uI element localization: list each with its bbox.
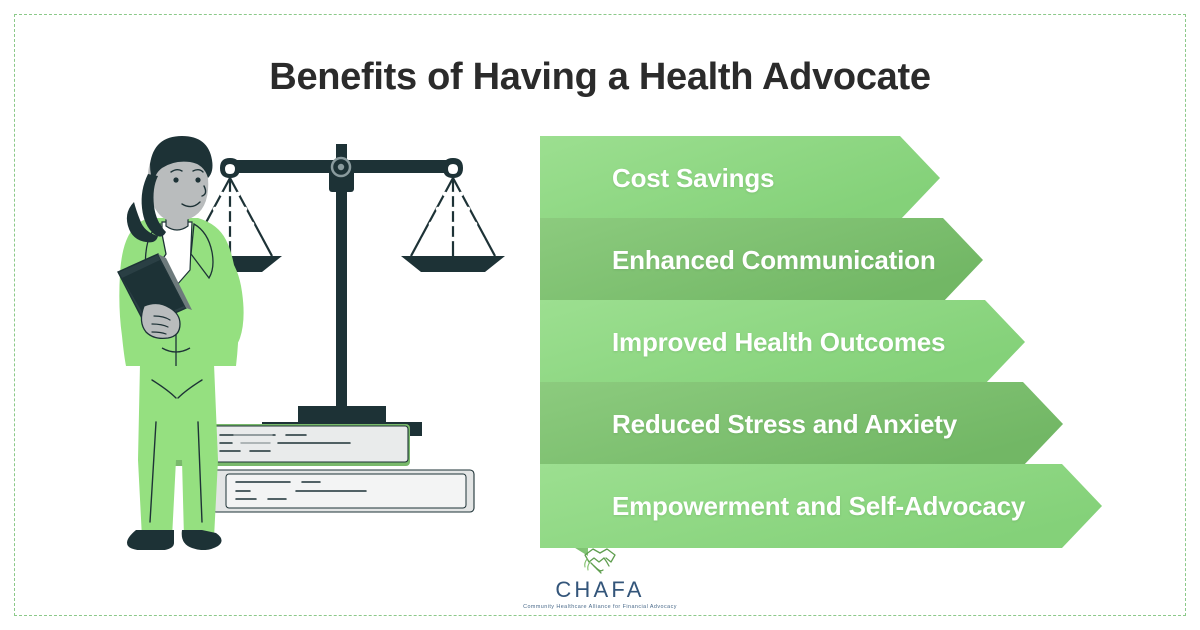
page-title: Benefits of Having a Health Advocate xyxy=(0,56,1200,99)
benefits-banner-stack: Cost Savings Enhanced Communication xyxy=(540,136,1140,546)
banner-row[interactable]: Enhanced Communication xyxy=(540,218,983,302)
illustration-health-advocate xyxy=(110,130,530,550)
banner-row[interactable]: Reduced Stress and Anxiety xyxy=(540,382,1063,466)
banner-row[interactable]: Improved Health Outcomes xyxy=(540,300,1025,384)
handshake-icon xyxy=(578,546,622,576)
infographic-canvas: Benefits of Having a Health Advocate xyxy=(0,0,1200,630)
logo-tagline: Community Healthcare Alliance for Financ… xyxy=(523,604,677,610)
chafa-logo: CHAFA Community Healthcare Alliance for … xyxy=(0,546,1200,610)
banner-row[interactable]: Empowerment and Self-Advocacy xyxy=(540,464,1102,548)
banner-label: Cost Savings xyxy=(612,136,774,220)
banner-label: Empowerment and Self-Advocacy xyxy=(612,464,1025,548)
banner-row[interactable]: Cost Savings xyxy=(540,136,940,220)
banner-label: Enhanced Communication xyxy=(612,218,936,302)
logo-wordmark: CHAFA xyxy=(555,577,644,603)
banner-label: Improved Health Outcomes xyxy=(612,300,945,384)
banner-label: Reduced Stress and Anxiety xyxy=(612,382,957,466)
